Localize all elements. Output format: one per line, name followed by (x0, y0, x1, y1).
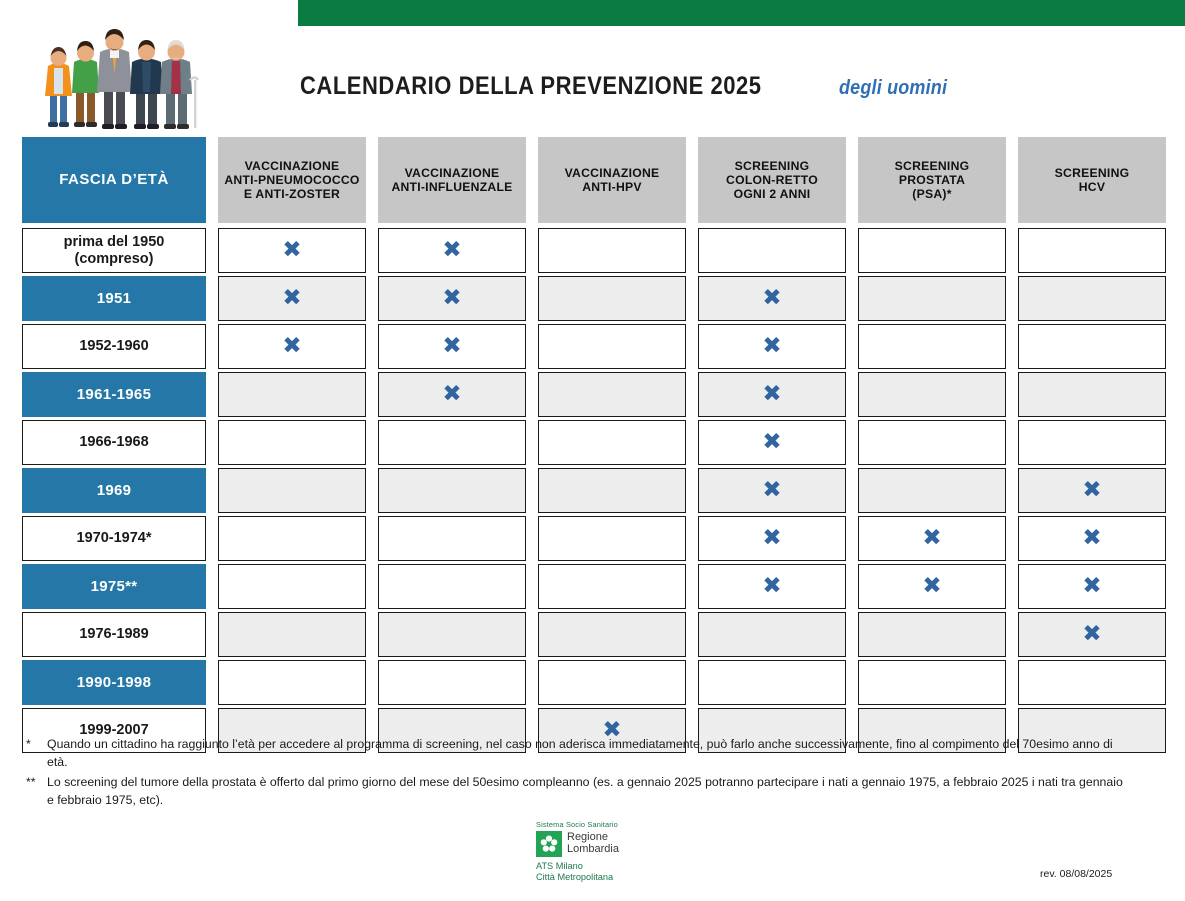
cell-hcv-empty (1018, 276, 1166, 321)
cell-hpv-empty (538, 420, 686, 465)
cell-colon-checked: ✖ (698, 420, 846, 465)
column-header-influenza: VACCINAZIONEANTI-INFLUENZALE (378, 137, 526, 223)
logo-ats-line2: Città Metropolitana (536, 872, 613, 882)
cell-colon-checked: ✖ (698, 516, 846, 561)
cell-hpv-empty (538, 468, 686, 513)
column-header-hpv: VACCINAZIONEANTI-HPV (538, 137, 686, 223)
x-mark-icon: ✖ (442, 335, 461, 358)
age-label-cell: 1961-1965 (22, 372, 206, 417)
cell-hcv-checked: ✖ (1018, 516, 1166, 561)
table-row: 1969✖✖ (22, 468, 1112, 513)
footnote-text: Quando un cittadino ha raggiunto l’età p… (47, 735, 1131, 772)
x-mark-icon: ✖ (1082, 527, 1101, 550)
x-mark-icon: ✖ (922, 575, 941, 598)
x-mark-icon: ✖ (1082, 575, 1101, 598)
cell-hpv-empty (538, 564, 686, 609)
table-row: 1951✖✖✖ (22, 276, 1112, 321)
x-mark-icon: ✖ (762, 527, 781, 550)
logo-ats-lines: ATS Milano Città Metropolitana (536, 861, 656, 883)
cell-pneumo-checked: ✖ (218, 228, 366, 273)
footnote-text: Lo screening del tumore della prostata è… (47, 773, 1131, 810)
cell-prostata-empty (858, 420, 1006, 465)
cell-hcv-empty (1018, 660, 1166, 705)
column-header-colon: SCREENINGCOLON-RETTOOGNI 2 ANNI (698, 137, 846, 223)
age-label-cell: 1975** (22, 564, 206, 609)
cell-pneumo-empty (218, 564, 366, 609)
x-mark-icon: ✖ (762, 479, 781, 502)
cell-hcv-empty (1018, 420, 1166, 465)
cell-influenza-empty (378, 564, 526, 609)
cell-hpv-empty (538, 372, 686, 417)
cell-pneumo-empty (218, 420, 366, 465)
x-mark-icon: ✖ (762, 575, 781, 598)
cell-influenza-checked: ✖ (378, 228, 526, 273)
age-label-cell: 1969 (22, 468, 206, 513)
column-header-age: FASCIA D’ETÀ (22, 137, 206, 223)
cell-pneumo-empty (218, 612, 366, 657)
cell-pneumo-empty (218, 372, 366, 417)
x-mark-icon: ✖ (442, 287, 461, 310)
cell-hpv-empty (538, 516, 686, 561)
cell-hcv-checked: ✖ (1018, 468, 1166, 513)
footnote-marker: * (26, 735, 40, 772)
page-title: CALENDARIO DELLA PREVENZIONE 2025 degli … (300, 72, 959, 101)
cell-influenza-empty (378, 468, 526, 513)
cell-colon-checked: ✖ (698, 324, 846, 369)
table-row: prima del 1950(compreso)✖✖ (22, 228, 1112, 273)
cell-prostata-empty (858, 372, 1006, 417)
logo-top-line: Sistema Socio Sanitario (536, 820, 656, 829)
lombardia-rose-icon (536, 831, 562, 857)
cell-influenza-checked: ✖ (378, 276, 526, 321)
cell-hpv-empty (538, 276, 686, 321)
x-mark-icon: ✖ (282, 335, 301, 358)
cell-pneumo-empty (218, 516, 366, 561)
cell-prostata-checked: ✖ (858, 564, 1006, 609)
prevention-calendar-table: FASCIA D’ETÀVACCINAZIONEANTI-PNEUMOCOCCO… (22, 137, 1112, 756)
table-row: 1975**✖✖✖ (22, 564, 1112, 609)
cell-hcv-empty (1018, 372, 1166, 417)
x-mark-icon: ✖ (762, 287, 781, 310)
age-label-cell: 1952-1960 (22, 324, 206, 369)
table-row: 1952-1960✖✖✖ (22, 324, 1112, 369)
cell-hcv-empty (1018, 228, 1166, 273)
x-mark-icon: ✖ (1082, 623, 1101, 646)
x-mark-icon: ✖ (762, 383, 781, 406)
logo-name-line2: Lombardia (567, 843, 619, 855)
footnote-double-star: ** Lo screening del tumore della prostat… (26, 773, 1131, 810)
men-group-illustration (24, 22, 209, 134)
cell-colon-checked: ✖ (698, 564, 846, 609)
cell-prostata-empty (858, 468, 1006, 513)
logo-ats-line1: ATS Milano (536, 861, 583, 871)
cell-influenza-empty (378, 660, 526, 705)
cell-colon-checked: ✖ (698, 276, 846, 321)
x-mark-icon: ✖ (762, 431, 781, 454)
logo-main: Regione Lombardia (536, 831, 656, 857)
regione-lombardia-logo: Sistema Socio Sanitario Regione Lombardi… (536, 820, 656, 883)
cell-influenza-empty (378, 612, 526, 657)
cell-prostata-checked: ✖ (858, 516, 1006, 561)
footnote-single-star: * Quando un cittadino ha raggiunto l’età… (26, 735, 1131, 772)
footnote-marker: ** (26, 773, 40, 810)
revision-label: rev. 08/08/2025 (1040, 868, 1112, 880)
cell-hpv-empty (538, 324, 686, 369)
cell-influenza-checked: ✖ (378, 324, 526, 369)
cell-influenza-empty (378, 420, 526, 465)
title-main-text: CALENDARIO DELLA PREVENZIONE 2025 (300, 72, 762, 101)
table-row: 1970-1974*✖✖✖ (22, 516, 1112, 561)
cell-pneumo-empty (218, 468, 366, 513)
age-label-cell: 1966-1968 (22, 420, 206, 465)
cell-hcv-checked: ✖ (1018, 612, 1166, 657)
cell-hpv-empty (538, 612, 686, 657)
logo-name: Regione Lombardia (567, 832, 619, 856)
column-header-prostata: SCREENINGPROSTATA(PSA)* (858, 137, 1006, 223)
cell-hcv-checked: ✖ (1018, 564, 1166, 609)
cell-colon-empty (698, 660, 846, 705)
cell-hcv-empty (1018, 324, 1166, 369)
x-mark-icon: ✖ (922, 527, 941, 550)
table-row: 1961-1965✖✖ (22, 372, 1112, 417)
x-mark-icon: ✖ (762, 335, 781, 358)
x-mark-icon: ✖ (282, 239, 301, 262)
cell-colon-empty (698, 612, 846, 657)
cell-colon-empty (698, 228, 846, 273)
column-header-hcv: SCREENINGHCV (1018, 137, 1166, 223)
x-mark-icon: ✖ (282, 287, 301, 310)
logo-name-line1: Regione (567, 831, 608, 843)
cell-influenza-checked: ✖ (378, 372, 526, 417)
age-label-cell: 1951 (22, 276, 206, 321)
footnotes: * Quando un cittadino ha raggiunto l’età… (26, 735, 1131, 811)
cell-pneumo-checked: ✖ (218, 276, 366, 321)
age-label-cell: prima del 1950(compreso) (22, 228, 206, 273)
cell-prostata-empty (858, 612, 1006, 657)
x-mark-icon: ✖ (442, 383, 461, 406)
cell-pneumo-empty (218, 660, 366, 705)
age-label-cell: 1970-1974* (22, 516, 206, 561)
cell-prostata-empty (858, 660, 1006, 705)
table-row: 1966-1968✖ (22, 420, 1112, 465)
age-label-cell: 1976-1989 (22, 612, 206, 657)
cell-prostata-empty (858, 324, 1006, 369)
cell-influenza-empty (378, 516, 526, 561)
table-row: 1976-1989✖ (22, 612, 1112, 657)
cell-prostata-empty (858, 228, 1006, 273)
cell-pneumo-checked: ✖ (218, 324, 366, 369)
table-row: 1990-1998 (22, 660, 1112, 705)
age-label-cell: 1990-1998 (22, 660, 206, 705)
cell-colon-checked: ✖ (698, 372, 846, 417)
x-mark-icon: ✖ (442, 239, 461, 262)
title-subtitle-text: degli uomini (839, 77, 947, 100)
top-green-bar (298, 0, 1185, 26)
cell-hpv-empty (538, 228, 686, 273)
cell-colon-checked: ✖ (698, 468, 846, 513)
cell-hpv-empty (538, 660, 686, 705)
x-mark-icon: ✖ (1082, 479, 1101, 502)
table-header-row: FASCIA D’ETÀVACCINAZIONEANTI-PNEUMOCOCCO… (22, 137, 1112, 223)
column-header-pneumo: VACCINAZIONEANTI-PNEUMOCOCCOE ANTI-ZOSTE… (218, 137, 366, 223)
cell-prostata-empty (858, 276, 1006, 321)
